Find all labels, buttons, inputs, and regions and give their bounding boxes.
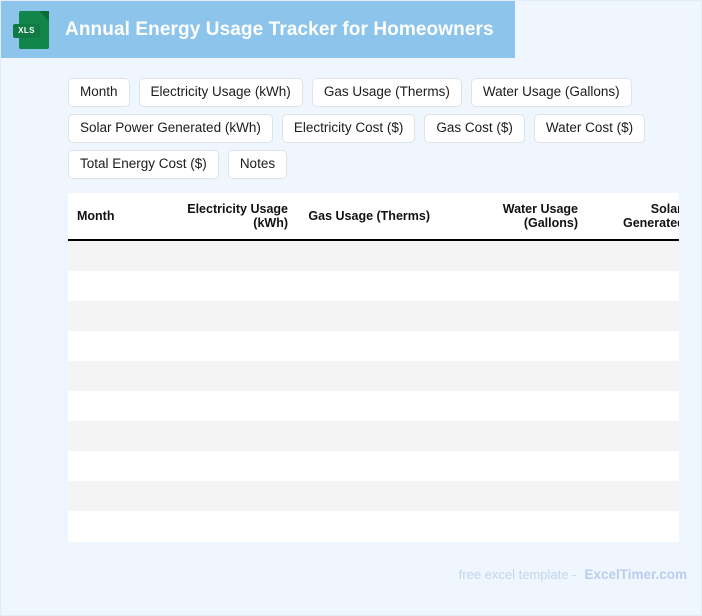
table-header-row: Month Electricity Usage (kWh) Gas Usage … xyxy=(68,193,679,240)
table-cell[interactable] xyxy=(296,511,438,541)
column-chip-list: Month Electricity Usage (kWh) Gas Usage … xyxy=(68,78,664,179)
table-cell[interactable] xyxy=(164,240,296,271)
table-cell[interactable] xyxy=(438,361,586,391)
table-cell[interactable] xyxy=(68,391,164,421)
table-cell[interactable] xyxy=(586,451,679,481)
table-cell[interactable] xyxy=(68,481,164,511)
column-header-month[interactable]: Month xyxy=(68,193,164,240)
table-cell[interactable] xyxy=(296,421,438,451)
table-cell[interactable] xyxy=(164,301,296,331)
table-cell[interactable] xyxy=(586,301,679,331)
footer-label: free excel template - xyxy=(459,567,577,582)
chip-electricity-cost[interactable]: Electricity Cost ($) xyxy=(282,114,416,143)
chip-total-energy-cost[interactable]: Total Energy Cost ($) xyxy=(68,150,219,179)
table-row[interactable] xyxy=(68,421,679,451)
table-cell[interactable] xyxy=(164,331,296,361)
table-cell[interactable] xyxy=(296,391,438,421)
table-cell[interactable] xyxy=(68,511,164,541)
table-cell[interactable] xyxy=(296,481,438,511)
table-row[interactable] xyxy=(68,331,679,361)
column-header-water-usage[interactable]: Water Usage (Gallons) xyxy=(438,193,586,240)
page-root: XLS Annual Energy Usage Tracker for Home… xyxy=(0,0,702,616)
table-cell[interactable] xyxy=(438,240,586,271)
chip-notes[interactable]: Notes xyxy=(228,150,287,179)
footer-brand-link[interactable]: ExcelTimer.com xyxy=(584,567,687,582)
table-cell[interactable] xyxy=(164,481,296,511)
table-cell[interactable] xyxy=(296,301,438,331)
table-cell[interactable] xyxy=(164,511,296,541)
table-cell[interactable] xyxy=(68,331,164,361)
table-cell[interactable] xyxy=(164,451,296,481)
column-header-solar-power-generated[interactable]: Solar Power Generated (kWh) xyxy=(586,193,679,240)
table-cell[interactable] xyxy=(586,271,679,301)
chip-water-cost[interactable]: Water Cost ($) xyxy=(534,114,645,143)
column-header-gas-usage[interactable]: Gas Usage (Therms) xyxy=(296,193,438,240)
table-cell[interactable] xyxy=(586,511,679,541)
table-cell[interactable] xyxy=(68,361,164,391)
table-cell[interactable] xyxy=(586,331,679,361)
table-cell[interactable] xyxy=(296,271,438,301)
table-cell[interactable] xyxy=(296,451,438,481)
table-head: Month Electricity Usage (kWh) Gas Usage … xyxy=(68,193,679,240)
table-cell[interactable] xyxy=(586,391,679,421)
table-cell[interactable] xyxy=(164,361,296,391)
table-cell[interactable] xyxy=(296,240,438,271)
table-cell[interactable] xyxy=(164,271,296,301)
table-row[interactable] xyxy=(68,301,679,331)
table-cell[interactable] xyxy=(438,391,586,421)
table-row[interactable] xyxy=(68,391,679,421)
data-table-viewport[interactable]: Month Electricity Usage (kWh) Gas Usage … xyxy=(68,193,679,542)
chip-gas-cost[interactable]: Gas Cost ($) xyxy=(424,114,525,143)
table-row[interactable] xyxy=(68,361,679,391)
table-cell[interactable] xyxy=(586,361,679,391)
data-table: Month Electricity Usage (kWh) Gas Usage … xyxy=(68,193,679,541)
xls-icon-fold xyxy=(39,11,49,21)
table-cell[interactable] xyxy=(586,481,679,511)
chip-electricity-usage[interactable]: Electricity Usage (kWh) xyxy=(139,78,303,107)
table-cell[interactable] xyxy=(586,240,679,271)
chip-month[interactable]: Month xyxy=(68,78,130,107)
table-cell[interactable] xyxy=(438,511,586,541)
table-row[interactable] xyxy=(68,271,679,301)
table-row[interactable] xyxy=(68,511,679,541)
xls-file-icon: XLS xyxy=(19,11,49,49)
xls-icon-label: XLS xyxy=(13,24,40,38)
table-cell[interactable] xyxy=(438,331,586,361)
table-cell[interactable] xyxy=(68,421,164,451)
footer-attribution: free excel template - ExcelTimer.com xyxy=(459,567,687,582)
chip-solar-power-generated[interactable]: Solar Power Generated (kWh) xyxy=(68,114,273,143)
column-header-electricity-usage[interactable]: Electricity Usage (kWh) xyxy=(164,193,296,240)
table-cell[interactable] xyxy=(68,271,164,301)
table-cell[interactable] xyxy=(68,451,164,481)
table-cell[interactable] xyxy=(438,301,586,331)
table-cell[interactable] xyxy=(438,271,586,301)
table-cell[interactable] xyxy=(438,451,586,481)
table-cell[interactable] xyxy=(68,301,164,331)
table-cell[interactable] xyxy=(438,421,586,451)
table-row[interactable] xyxy=(68,240,679,271)
table-cell[interactable] xyxy=(586,421,679,451)
chip-gas-usage[interactable]: Gas Usage (Therms) xyxy=(312,78,462,107)
table-cell[interactable] xyxy=(296,361,438,391)
table-cell[interactable] xyxy=(68,240,164,271)
chip-water-usage[interactable]: Water Usage (Gallons) xyxy=(471,78,632,107)
app-header: XLS Annual Energy Usage Tracker for Home… xyxy=(1,1,515,58)
page-title: Annual Energy Usage Tracker for Homeowne… xyxy=(65,19,494,41)
table-cell[interactable] xyxy=(164,391,296,421)
table-cell[interactable] xyxy=(164,421,296,451)
table-cell[interactable] xyxy=(296,331,438,361)
table-body xyxy=(68,240,679,541)
table-cell[interactable] xyxy=(438,481,586,511)
table-row[interactable] xyxy=(68,481,679,511)
table-row[interactable] xyxy=(68,451,679,481)
